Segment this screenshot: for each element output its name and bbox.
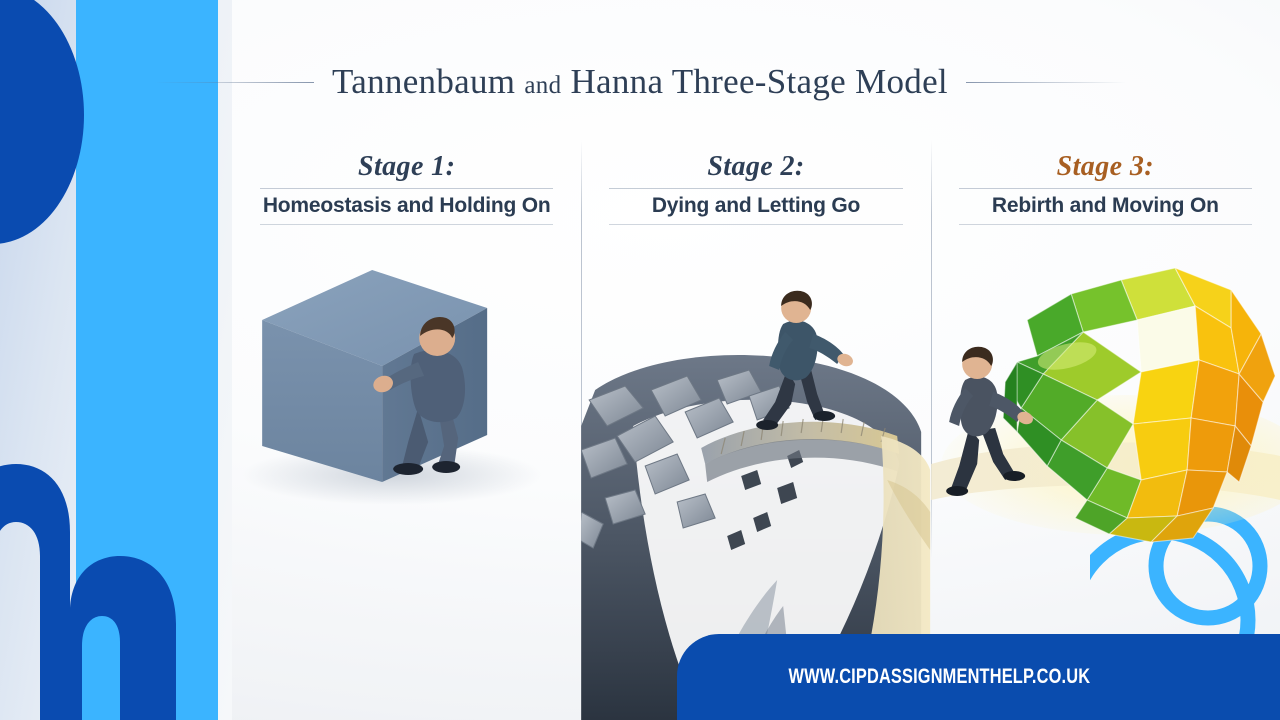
stage-3-label: Stage 3: bbox=[931, 152, 1280, 181]
stage-columns: Stage 1: Homeostasis and Holding On bbox=[232, 0, 1280, 720]
stage-column-2: Stage 2: Dying and Letting Go bbox=[581, 0, 930, 720]
stage-1-subtitle-rule: Homeostasis and Holding On bbox=[260, 188, 553, 225]
blue-swoosh-shape bbox=[0, 0, 84, 244]
stage-1-illustration bbox=[232, 250, 581, 720]
stage-2-subtitle: Dying and Letting Go bbox=[609, 194, 902, 218]
stage-1-label: Stage 1: bbox=[232, 152, 581, 181]
stage-2-subtitle-rule: Dying and Letting Go bbox=[609, 188, 902, 225]
stage-2-heading: Stage 2: Dying and Letting Go bbox=[581, 152, 930, 225]
left-decor-panel bbox=[0, 0, 232, 720]
stage-2-label: Stage 2: bbox=[581, 152, 930, 181]
letter-m-mark bbox=[0, 380, 222, 720]
stage-1-subtitle: Homeostasis and Holding On bbox=[260, 194, 553, 218]
stage-column-3: Stage 3: Rebirth and Moving On bbox=[931, 0, 1280, 720]
stage-column-1: Stage 1: Homeostasis and Holding On bbox=[232, 0, 581, 720]
website-url[interactable]: WWW.CIPDASSIGNMENTHELP.CO.UK bbox=[789, 665, 1091, 689]
stage-3-subtitle: Rebirth and Moving On bbox=[959, 194, 1252, 218]
stage-3-heading: Stage 3: Rebirth and Moving On bbox=[931, 152, 1280, 225]
footer-banner: WWW.CIPDASSIGNMENTHELP.CO.UK bbox=[677, 634, 1280, 720]
stage-3-subtitle-rule: Rebirth and Moving On bbox=[959, 188, 1252, 225]
stage-1-heading: Stage 1: Homeostasis and Holding On bbox=[232, 152, 581, 225]
infographic-canvas: Tannenbaum and Hanna Three-Stage Model S… bbox=[0, 0, 1280, 720]
